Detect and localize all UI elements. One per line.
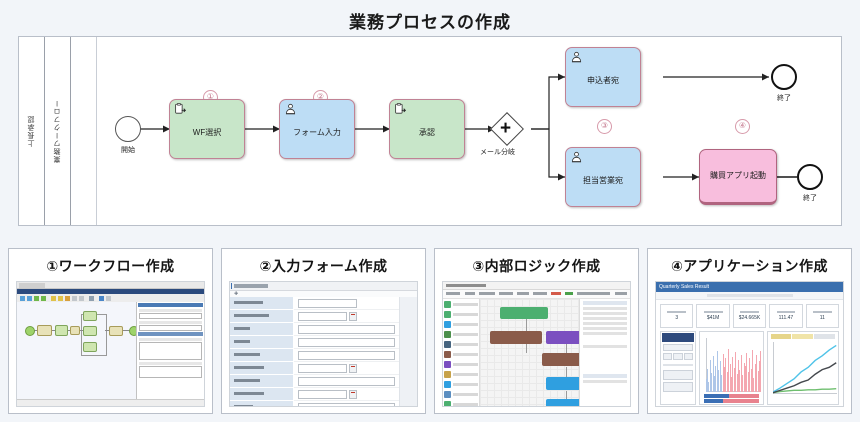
- kpi-value: $24.665K: [739, 315, 760, 321]
- dashboard-header: Quarterly Sales Result: [656, 282, 843, 292]
- flow-node[interactable]: [83, 311, 97, 321]
- logic-link: [526, 343, 527, 353]
- command-item[interactable]: [615, 292, 627, 295]
- toolbar-icon[interactable]: [65, 296, 70, 301]
- field-label: [230, 349, 294, 362]
- kpi-value: $41M: [707, 315, 720, 321]
- logic-node-trigger[interactable]: [500, 307, 548, 319]
- logic-canvas[interactable]: [480, 299, 579, 406]
- form-header-title: [234, 284, 268, 288]
- legend-swatch: [771, 334, 792, 339]
- text-input[interactable]: [298, 299, 357, 308]
- line-chart: [767, 331, 839, 405]
- flow-node[interactable]: [55, 325, 68, 336]
- form-row: [230, 375, 417, 388]
- task-mail-sales[interactable]: 担当営業宛: [565, 147, 641, 207]
- filter-button[interactable]: [673, 353, 682, 360]
- palette-icon: [444, 321, 451, 328]
- card-row: ①ワークフロー作成: [8, 248, 852, 414]
- form-row: [230, 310, 417, 323]
- palette-item[interactable]: [444, 400, 478, 407]
- field-label: [230, 310, 294, 323]
- palette-item[interactable]: [444, 360, 478, 369]
- card-form-title: ②入力フォーム作成: [222, 249, 425, 281]
- gateway-plus-symbol: +: [500, 119, 511, 138]
- inspector-row: [583, 312, 627, 315]
- task-approve[interactable]: 承認: [389, 99, 465, 159]
- script-task-icon: [174, 103, 187, 116]
- field-label: [230, 297, 294, 310]
- badge-3: ③: [597, 119, 612, 134]
- card-logic[interactable]: ③内部ロジック作成: [434, 248, 639, 414]
- lane-workflow: 業務ワークフロー: [45, 37, 71, 225]
- kpi-label: [777, 311, 796, 313]
- logic-editor-screenshot[interactable]: [442, 281, 631, 407]
- field-label: [230, 388, 294, 401]
- calendar-icon[interactable]: [349, 390, 357, 399]
- command-item[interactable]: [517, 292, 529, 295]
- logic-node-action[interactable]: [490, 331, 542, 344]
- user-task-icon: [284, 103, 297, 116]
- properties-panel[interactable]: [136, 302, 204, 400]
- kpi-row: 3 $41M $24.665K 111.47 11: [656, 300, 843, 331]
- palette-icon: [444, 401, 451, 407]
- logic-title: [446, 284, 486, 287]
- window-tabbar: [17, 282, 204, 289]
- end-event-top[interactable]: [771, 64, 797, 90]
- process-diagram-panel: 上長承認 業務ワークフロー: [18, 36, 842, 226]
- flow-node[interactable]: [83, 342, 97, 352]
- command-item[interactable]: [551, 292, 561, 295]
- kpi-tile: $41M: [696, 304, 729, 328]
- text-input[interactable]: [298, 377, 396, 386]
- kpi-tile: 3: [660, 304, 693, 328]
- flow-node[interactable]: [109, 326, 123, 336]
- palette-icon: [444, 311, 451, 318]
- inspector-row: [583, 327, 627, 330]
- text-input[interactable]: [298, 403, 396, 408]
- card-workflow[interactable]: ①ワークフロー作成: [8, 248, 213, 414]
- action-palette[interactable]: [443, 299, 480, 406]
- card-application[interactable]: ④アプリケーション作成 Quarterly Sales Result 3 $41…: [647, 248, 852, 414]
- command-item[interactable]: [479, 292, 495, 295]
- field-label: [230, 401, 294, 407]
- command-item[interactable]: [446, 292, 460, 295]
- workflow-designer-screenshot[interactable]: [16, 281, 205, 407]
- field-label: [230, 375, 294, 388]
- dashboard-screenshot[interactable]: Quarterly Sales Result 3 $41M $24.665K 1…: [655, 281, 844, 407]
- line-series-group: [773, 342, 836, 394]
- inspector-panel[interactable]: [579, 299, 630, 406]
- kpi-tile: 11: [806, 304, 839, 328]
- dashboard-filter-bar: [656, 292, 843, 300]
- command-item[interactable]: [499, 292, 513, 295]
- task-wf-select[interactable]: WF選択: [169, 99, 245, 159]
- toolbar-icon[interactable]: [27, 296, 32, 301]
- chart-legend: [771, 334, 836, 339]
- form-side-pane: [399, 297, 417, 406]
- filter-placeholder: [706, 294, 792, 297]
- kpi-label: [740, 311, 759, 313]
- date-input[interactable]: [298, 312, 348, 321]
- filter-button[interactable]: [663, 382, 693, 392]
- inspector-row: [583, 322, 627, 325]
- palette-item[interactable]: [444, 310, 478, 319]
- card-logic-title: ③内部ロジック作成: [435, 249, 638, 281]
- palette-icon: [444, 341, 451, 348]
- command-item[interactable]: [577, 292, 593, 295]
- property-label: [139, 321, 202, 324]
- logic-header: [443, 282, 630, 290]
- diagram-canvas: 開始 ① WF選択 ② フォーム入力: [97, 37, 841, 225]
- palette-icon: [444, 351, 451, 358]
- form-header: [230, 282, 417, 291]
- logic-body: [443, 299, 630, 406]
- lane-approver: 上長承認: [19, 37, 45, 225]
- filter-button-group: [663, 353, 693, 360]
- form-row: [230, 349, 417, 362]
- filter-button[interactable]: [684, 353, 693, 360]
- field-label: [230, 362, 294, 375]
- start-event-label: 開始: [103, 145, 153, 155]
- stacked-bar-row: [704, 394, 759, 398]
- calendar-icon[interactable]: [349, 364, 357, 373]
- task-mail-applicant[interactable]: 申込者宛: [565, 47, 641, 107]
- stacked-bar-row: [704, 399, 759, 403]
- property-label: [139, 362, 202, 365]
- kpi-label: [667, 311, 686, 313]
- task-approve-label: 承認: [419, 121, 435, 138]
- toolbar-icon[interactable]: [72, 296, 77, 301]
- legend-swatch: [792, 334, 813, 339]
- status-bar: [17, 399, 204, 406]
- text-input[interactable]: [298, 338, 396, 347]
- toolbar-icon[interactable]: [51, 296, 56, 301]
- command-item[interactable]: [465, 292, 475, 295]
- card-application-title: ④アプリケーション作成: [648, 249, 851, 281]
- line-series: [773, 363, 836, 393]
- property-input[interactable]: [139, 366, 202, 378]
- stacked-bars: [704, 394, 759, 403]
- toolbar-icon[interactable]: [34, 296, 39, 301]
- property-textarea[interactable]: [139, 342, 202, 360]
- logic-link: [566, 343, 567, 353]
- filter-panel-header: [662, 333, 694, 342]
- task-form-input-label: フォーム入力: [293, 121, 341, 138]
- kpi-tile: $24.665K: [733, 304, 766, 328]
- logic-link: [566, 367, 567, 377]
- script-task-icon: [394, 103, 407, 116]
- kpi-tile: 111.47: [769, 304, 802, 328]
- inspector-subheader: [583, 374, 627, 378]
- chart-row: [656, 331, 843, 407]
- card-form[interactable]: ②入力フォーム作成 ✚: [221, 248, 426, 414]
- flow-node[interactable]: [83, 326, 97, 336]
- user-task-icon: [570, 151, 583, 164]
- form-row: [230, 323, 417, 336]
- command-item[interactable]: [592, 292, 610, 295]
- kpi-value: 3: [675, 315, 678, 321]
- lane-spacer: [71, 37, 97, 225]
- flow-canvas[interactable]: [17, 302, 136, 400]
- palette-icon: [444, 361, 451, 368]
- property-input[interactable]: [139, 313, 202, 319]
- property-input[interactable]: [139, 325, 202, 331]
- designer-body: [17, 302, 204, 400]
- property-label: [139, 338, 202, 341]
- palette-item[interactable]: [444, 320, 478, 329]
- kpi-value: 111.47: [779, 315, 794, 321]
- legend-swatch: [814, 334, 835, 339]
- toolbar-icon[interactable]: [89, 296, 94, 301]
- toolbar-icon[interactable]: [20, 296, 25, 301]
- palette-item[interactable]: [444, 350, 478, 359]
- logic-link: [526, 319, 527, 331]
- field-label: [230, 336, 294, 349]
- inspector-row: [583, 380, 627, 383]
- toolbar-icon[interactable]: [99, 296, 104, 301]
- task-form-input[interactable]: フォーム入力: [279, 99, 355, 159]
- calendar-icon[interactable]: [349, 312, 357, 321]
- properties-subheader: [138, 332, 203, 336]
- toolbar-icon[interactable]: [79, 296, 84, 301]
- kpi-value: 11: [820, 315, 825, 321]
- inspector-row: [583, 317, 627, 320]
- logic-command-bar: [443, 290, 630, 299]
- date-input[interactable]: [298, 364, 348, 373]
- bar-chart: [699, 331, 764, 405]
- dashboard-header-title: Quarterly Sales Result: [659, 283, 709, 291]
- text-input[interactable]: [298, 325, 396, 334]
- form-row: [230, 362, 417, 375]
- palette-icon: [444, 331, 451, 338]
- command-item[interactable]: [565, 292, 573, 295]
- gateway-label: メール分岐: [480, 147, 515, 157]
- field-label: [230, 323, 294, 336]
- end-event-bottom[interactable]: [797, 164, 823, 190]
- divider: [663, 364, 693, 366]
- palette-item[interactable]: [444, 300, 478, 309]
- flow-node[interactable]: [37, 325, 52, 336]
- property-label: [139, 309, 202, 312]
- palette-item[interactable]: [444, 340, 478, 349]
- palette-icon: [444, 381, 451, 388]
- filter-button[interactable]: [663, 344, 693, 351]
- bar-series: [706, 349, 762, 392]
- page-root: 業務プロセスの作成 上長承認 業務ワークフロー: [0, 0, 860, 422]
- form-row: [230, 297, 417, 310]
- palette-item[interactable]: [444, 390, 478, 399]
- form-row: [230, 336, 417, 349]
- inspector-row: [583, 307, 627, 310]
- lane-approver-label: 上長承認: [27, 115, 37, 147]
- page-title: 業務プロセスの作成: [0, 8, 860, 33]
- palette-icon: [444, 391, 451, 398]
- text-input[interactable]: [298, 351, 396, 360]
- kpi-label: [704, 311, 723, 313]
- end-event-bottom-label: 終了: [785, 193, 835, 203]
- accent-bar: [231, 283, 232, 289]
- command-item[interactable]: [533, 292, 547, 295]
- palette-icon: [444, 371, 451, 378]
- inspector-row: [583, 345, 627, 348]
- task-mail-sales-label: 担当営業宛: [583, 169, 623, 186]
- task-wf-select-label: WF選択: [193, 121, 221, 138]
- filter-panel[interactable]: [660, 331, 696, 405]
- flow-node[interactable]: [70, 326, 80, 335]
- logic-link: [566, 391, 567, 399]
- kpi-label: [813, 311, 832, 313]
- task-purchase-app-label: 購買アプリ起動: [710, 171, 766, 181]
- badge-4: ④: [735, 119, 750, 134]
- palette-item[interactable]: [444, 380, 478, 389]
- user-task-icon: [570, 51, 583, 64]
- start-event[interactable]: [115, 116, 141, 142]
- card-workflow-title: ①ワークフロー作成: [9, 249, 212, 281]
- lane-workflow-label: 業務ワークフロー: [53, 99, 63, 163]
- inspector-header: [583, 301, 627, 305]
- form-row: [230, 401, 417, 407]
- inspector-row: [583, 332, 627, 335]
- bar: [760, 351, 761, 392]
- form-row: [230, 388, 417, 401]
- properties-header: [138, 303, 203, 307]
- task-mail-applicant-label: 申込者宛: [587, 69, 619, 86]
- form-field-list: [230, 297, 417, 406]
- palette-icon: [444, 301, 451, 308]
- filter-button[interactable]: [663, 353, 672, 360]
- toolbar-icon[interactable]: [41, 296, 46, 301]
- palette-item[interactable]: [444, 330, 478, 339]
- flow-node-start[interactable]: [25, 326, 35, 336]
- window-tab: [19, 283, 45, 288]
- toolbar-icon[interactable]: [106, 296, 111, 301]
- filter-button[interactable]: [663, 370, 693, 380]
- palette-item[interactable]: [444, 370, 478, 379]
- end-event-top-label: 終了: [759, 93, 809, 103]
- toolbar-icon[interactable]: [58, 296, 63, 301]
- task-purchase-app[interactable]: 購買アプリ起動: [699, 149, 777, 205]
- form-builder-screenshot[interactable]: ✚: [229, 281, 418, 407]
- date-input[interactable]: [298, 390, 348, 399]
